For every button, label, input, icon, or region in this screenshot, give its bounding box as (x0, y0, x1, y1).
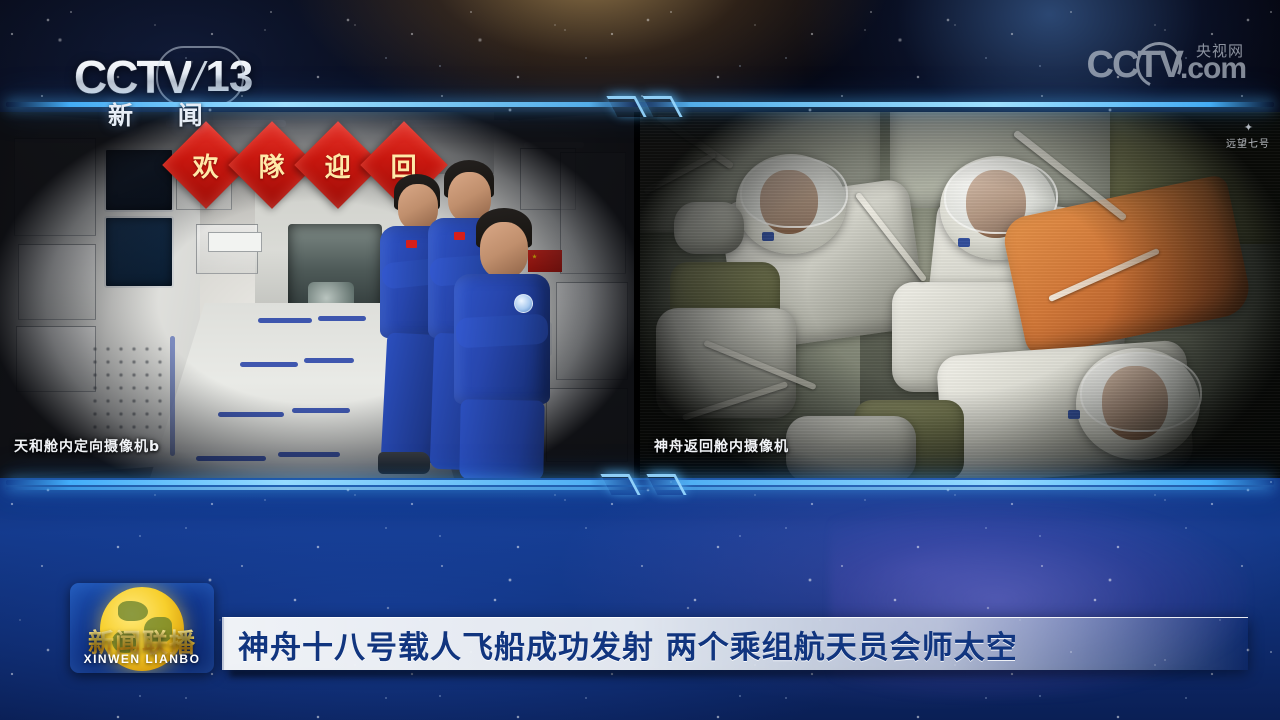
tracking-ship-mark-icon: ✦ (1226, 122, 1270, 133)
globe-landmass-1 (118, 601, 148, 621)
tracking-ship-label: 远望七号 (1226, 135, 1270, 150)
shenzhou-vignette (640, 112, 1280, 478)
astronaut-1-badge (406, 240, 417, 248)
video-pane-tianhe[interactable]: 欢 隊 迎 回 (0, 112, 634, 478)
couplet-char-3: 迎 (325, 146, 351, 183)
shenzhou-camera-caption: 神舟返回舱内摄像机 (654, 436, 789, 456)
program-name-en: XINWEN LIANBO (70, 652, 214, 666)
split-screen-video: 欢 隊 迎 回 (0, 112, 1280, 478)
astronaut-3-arms-crossed (455, 314, 548, 349)
broadcast-frame: CCTV / 13 新 闻 央视网 CCTV .com (0, 0, 1280, 720)
astronaut-blue-3 (442, 208, 580, 478)
couplet-char-1: 欢 (193, 146, 219, 183)
headline-text: 神舟十八号载人飞船成功发射 两个乘组航天员会师太空 (224, 622, 1018, 667)
banner-drop-shadow (230, 669, 1230, 677)
shenzhou-capsule-interior (640, 112, 1280, 478)
tianhe-camera-caption: 天和舱内定向摄像机b (14, 436, 160, 456)
astronaut-3-mission-patch (514, 294, 533, 313)
astronaut-3-head (480, 222, 528, 278)
astronaut-3-legs (459, 399, 544, 478)
video-pane-shenzhou[interactable]: ✦ 远望七号 神舟返回舱内摄像机 (640, 112, 1280, 478)
headline-banner: 神舟十八号载人飞船成功发射 两个乘组航天员会师太空 (222, 617, 1248, 670)
tracking-ship-tag: ✦ 远望七号 (1226, 122, 1270, 150)
tianhe-interior: 欢 隊 迎 回 (0, 112, 634, 478)
channel-subtitle: 新 闻 (108, 96, 221, 132)
cctv-com-watermark: 央视网 CCTV .com (1087, 46, 1246, 84)
couplet-char-2: 隊 (259, 146, 285, 183)
program-logo-box: 新闻联播 XINWEN LIANBO (70, 583, 214, 673)
watermark-chinese: 央视网 (1196, 40, 1244, 61)
